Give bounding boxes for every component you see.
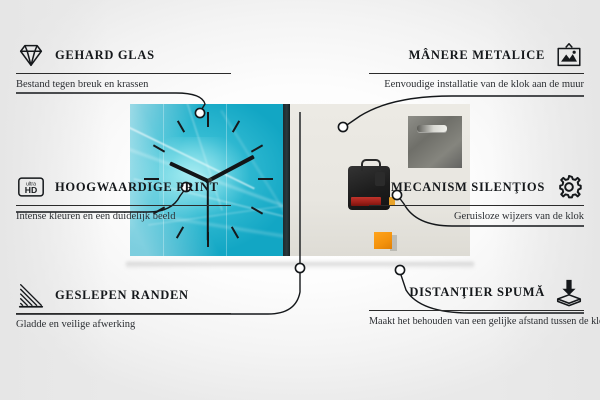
foam-spacer [374, 232, 392, 249]
feature-header: MÂNERE METALICE [369, 40, 584, 70]
feature-title: MÂNERE METALICE [409, 48, 545, 63]
infographic-canvas: GEHARD GLAS Bestand tegen breuk en krass… [0, 0, 600, 400]
hanger-keyhole-slot [417, 125, 447, 132]
feature-header: GEHARD GLAS [16, 40, 231, 70]
feature-title: MECANISM SILENŢIOS [391, 180, 545, 195]
clock-tick [176, 226, 184, 238]
feature-description: Gladde en veilige afwerking [16, 318, 231, 332]
feature-header: MECANISM SILENŢIOS [369, 172, 584, 202]
feature-header: GESLEPEN RANDEN [16, 280, 231, 310]
foam-spacer-icon [554, 277, 584, 307]
gear-icon [554, 172, 584, 202]
feature-gehard-glas: GEHARD GLAS Bestand tegen breuk en krass… [16, 40, 231, 92]
feature-header: DISTANŢIER SPUMĂ [369, 277, 584, 307]
clock-tick [177, 120, 185, 132]
feature-description: Geruisloze wijzers van de klok [369, 210, 584, 224]
feature-hoogwaardige-print: ultra HD HOOGWAARDIGE PRINT Intense kleu… [16, 172, 231, 224]
clock-tick [207, 112, 209, 127]
feature-title: GEHARD GLAS [55, 48, 155, 63]
feature-divider [369, 73, 584, 74]
picture-hanger-icon [554, 40, 584, 70]
feature-header: ultra HD HOOGWAARDIGE PRINT [16, 172, 231, 202]
feature-divider [369, 205, 584, 206]
feature-title: DISTANŢIER SPUMĂ [409, 285, 545, 300]
feature-description: Intense kleuren en een duidelijk beeld [16, 210, 231, 224]
feature-title: HOOGWAARDIGE PRINT [55, 180, 219, 195]
feature-manere-metalice: MÂNERE METALICE Eenvoudige installatie v… [369, 40, 584, 92]
feature-divider [16, 205, 231, 206]
hd-badge-bottom: HD [25, 185, 37, 195]
clock-tick [232, 120, 240, 132]
metal-hanger-plate [408, 116, 462, 168]
ground-edges-icon [16, 280, 46, 310]
feature-description: Eenvoudige installatie van de klok aan d… [369, 78, 584, 92]
diamond-icon [16, 40, 46, 70]
hanging-loop [361, 159, 381, 171]
feature-title: GESLEPEN RANDEN [55, 288, 189, 303]
clock-tick [258, 178, 273, 180]
feature-divider [16, 73, 231, 74]
feature-distantier-spuma: DISTANŢIER SPUMĂ Maakt het behouden van … [369, 277, 584, 329]
tempered-glass-edge [283, 104, 290, 256]
feature-divider [369, 310, 584, 311]
clock-tick [251, 144, 263, 152]
feature-description: Maakt het behouden van een gelijke afsta… [369, 315, 584, 329]
feature-mecanism-silentios: MECANISM SILENŢIOS Geruisloze wijzers va… [369, 172, 584, 224]
ultra-hd-icon: ultra HD [16, 172, 46, 202]
feature-divider [16, 313, 231, 314]
feature-description: Bestand tegen breuk en krassen [16, 78, 231, 92]
feature-geslepen-randen: GESLEPEN RANDEN Gladde en veilige afwerk… [16, 280, 231, 332]
